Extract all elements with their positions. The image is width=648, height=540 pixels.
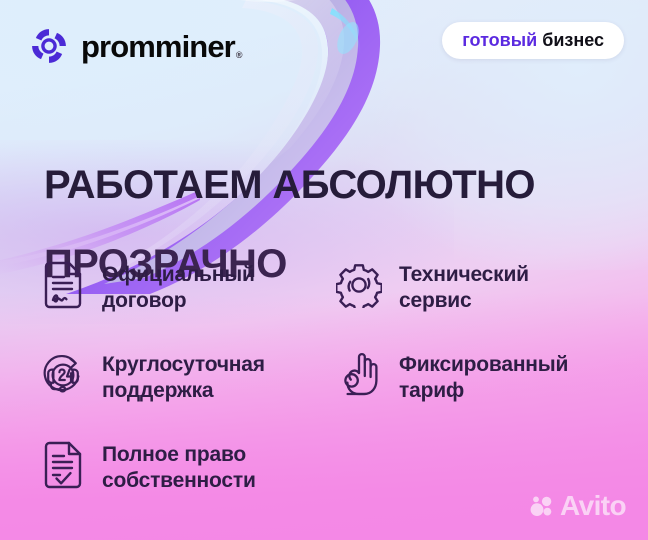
feature-column-right: Технический сервис (335, 258, 630, 348)
list-item-label: Полное право собственности (102, 438, 256, 493)
list-item: Официальный договор (40, 258, 335, 348)
brand-wordmark-text: promminer (81, 29, 235, 64)
feature-list: Официальный договор Технический сервис (40, 258, 630, 528)
promotional-poster: promminer® готовый бизнес РАБОТАЕМ АБСОЛ… (0, 0, 648, 540)
avito-label: Avito (560, 492, 626, 520)
headline-line-1: РАБОТАЕМ АБСОЛЮТНО (44, 166, 624, 205)
list-item: Полное право собственности (40, 438, 335, 528)
contract-document-icon (40, 260, 86, 310)
registered-trademark-icon: ® (236, 50, 242, 60)
list-item-label: Круглосуточная поддержка (102, 348, 265, 403)
feature-column-right: Фиксированный тариф (335, 348, 630, 438)
list-item: Технический сервис (335, 258, 630, 348)
document-checkmark-icon (40, 440, 86, 490)
status-badge: готовый бизнес (442, 22, 624, 59)
brand-wordmark: promminer® (81, 31, 241, 62)
feature-column-left: Полное право собственности (40, 438, 335, 528)
list-item-label: Официальный договор (102, 258, 255, 313)
promminer-petal-mark-icon (30, 27, 68, 65)
avito-dots-icon (529, 493, 555, 519)
list-item: Круглосуточная поддержка (40, 348, 335, 438)
avito-watermark: Avito (529, 492, 626, 520)
list-item-label: Фиксированный тариф (399, 348, 568, 403)
list-item: Фиксированный тариф (335, 348, 630, 438)
list-item-label: Технический сервис (399, 258, 529, 313)
feature-column-left: Официальный договор (40, 258, 335, 348)
ok-hand-gesture-icon (335, 350, 383, 400)
badge-accent-text: готовый (462, 30, 537, 50)
headset-24h-support-icon (40, 350, 86, 400)
gear-icon (335, 260, 383, 310)
badge-dark-text: бизнес (542, 30, 604, 50)
brand-logo[interactable]: promminer® (30, 27, 241, 65)
feature-row: Круглосуточная поддержка (40, 348, 630, 438)
feature-row: Официальный договор Технический сервис (40, 258, 630, 348)
feature-column-left: Круглосуточная поддержка (40, 348, 335, 438)
